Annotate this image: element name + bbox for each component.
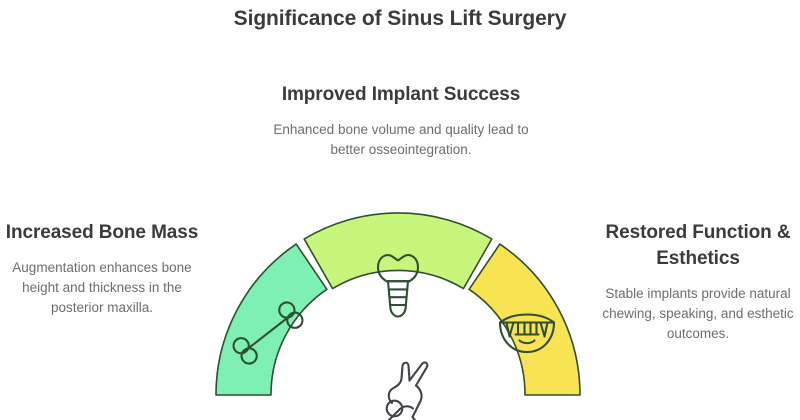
fan-segment-increased-bone-mass[interactable] <box>216 244 327 395</box>
section-heading-improved-implant-success: Improved Implant Success <box>270 82 532 108</box>
section-text-increased-bone-mass: Increased Bone Mass Augmentation enhance… <box>4 220 200 318</box>
section-body-improved-implant-success: Enhanced bone volume and quality lead to… <box>270 120 532 160</box>
section-text-improved-implant-success: Improved Implant Success Enhanced bone v… <box>270 82 532 160</box>
section-heading-increased-bone-mass: Increased Bone Mass <box>4 220 200 246</box>
fan-segment-shape-right <box>469 244 580 395</box>
section-body-increased-bone-mass: Augmentation enhances bone height and th… <box>4 258 200 318</box>
hand-holding-dental-tool-icon <box>380 362 427 420</box>
fan-segment-restored-function-esthetics[interactable] <box>469 244 580 395</box>
hub-icon-group <box>380 362 427 420</box>
section-text-restored-function-esthetics: Restored Function & Esthetics Stable imp… <box>600 220 796 344</box>
section-body-restored-function-esthetics: Stable implants provide natural chewing,… <box>600 284 796 344</box>
fan-segment-shape-left <box>216 244 327 395</box>
semicircle-fan-diagram <box>198 205 598 420</box>
page-title: Significance of Sinus Lift Surgery <box>200 4 600 33</box>
fan-segment-improved-implant-success[interactable] <box>304 213 492 317</box>
section-heading-restored-function-esthetics: Restored Function & Esthetics <box>600 220 796 272</box>
fan-segment-shape-center <box>304 213 492 289</box>
infographic-canvas: Significance of Sinus Lift Surgery Impro… <box>0 0 800 420</box>
